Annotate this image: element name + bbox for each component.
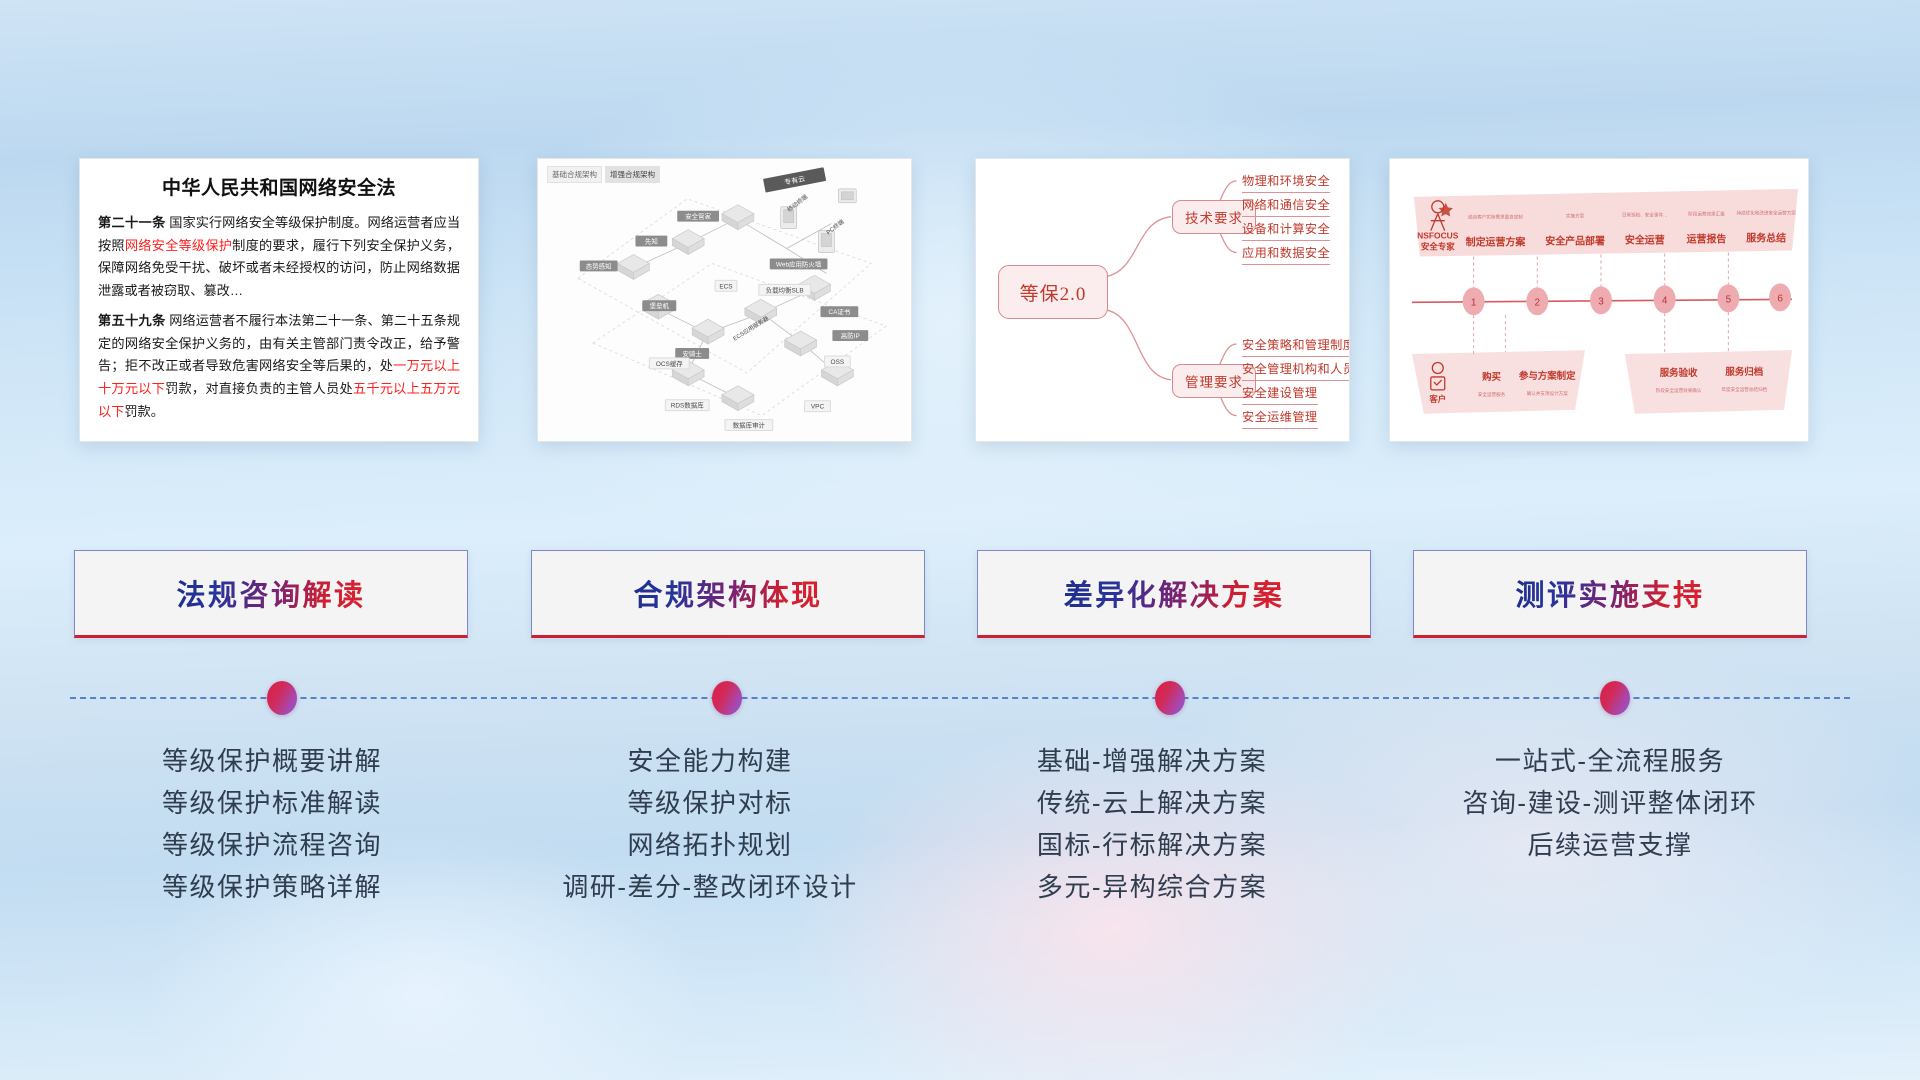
svg-text:OCS缓存: OCS缓存	[656, 359, 683, 368]
svg-text:负载均衡SLB: 负载均衡SLB	[766, 285, 804, 294]
list-item: 多元-异构综合方案	[940, 866, 1364, 908]
svg-text:数据库审计: 数据库审计	[733, 421, 766, 430]
list-item: 基础-增强解决方案	[940, 740, 1364, 782]
mindmap-leaf-mgmt-4: 安全运维管理	[1242, 407, 1318, 429]
list-item: 后续运营支撑	[1380, 824, 1840, 866]
svg-text:安骑士: 安骑士	[682, 349, 702, 358]
svg-text:安全管家: 安全管家	[685, 212, 711, 221]
list-item: 国标-行标解决方案	[940, 824, 1364, 866]
svg-text:安全运营服务: 安全运营服务	[1478, 391, 1506, 398]
svg-text:安全专家: 安全专家	[1421, 242, 1455, 252]
section-heading-1[interactable]: 法规咨询解读	[74, 550, 468, 638]
law-article-21: 第二十一条 国家实行网络安全等级保护制度。网络运营者应当按照网络安全等级保护制度…	[98, 212, 460, 303]
svg-text:OSS: OSS	[831, 359, 845, 366]
section-heading-2[interactable]: 合规架构体现	[531, 550, 925, 638]
architecture-diagram: 基础合规架构 增强合规架构	[538, 159, 911, 441]
mindmap-leaf-mgmt-1: 安全策略和管理制度	[1242, 335, 1350, 357]
list-item: 等级保护流程咨询	[60, 824, 484, 866]
timeline-rail-line	[70, 697, 1850, 699]
svg-text:阶段运营效果汇报: 阶段运营效果汇报	[1688, 211, 1725, 218]
mindmap-root-node[interactable]: 等保2.0	[998, 265, 1108, 319]
section-heading-4-label: 测评实施支持	[1515, 572, 1704, 614]
svg-text:6: 6	[1777, 293, 1783, 304]
svg-text:VPC: VPC	[811, 404, 825, 411]
svg-text:服务总结: 服务总结	[1746, 232, 1786, 245]
svg-text:年度安全运营总结归档: 年度安全运营总结归档	[1721, 386, 1767, 393]
timeline-dot-4[interactable]	[1600, 681, 1630, 715]
article-21-label: 第二十一条	[98, 215, 166, 230]
article-59-text-2: 罚款，对直接负责的主管人员处	[165, 381, 353, 396]
section-heading-1-label: 法规咨询解读	[176, 572, 365, 614]
svg-text:持续优化和改进安全运营方案: 持续优化和改进安全运营方案	[1737, 210, 1797, 217]
svg-text:安全产品部署: 安全产品部署	[1545, 235, 1605, 248]
svg-text:移动终端: 移动终端	[786, 193, 810, 214]
list-item: 一站式-全流程服务	[1380, 740, 1840, 782]
svg-text:态势感知: 态势感知	[586, 261, 612, 270]
mindmap-leaf-mgmt-2: 安全管理机构和人员	[1242, 359, 1350, 381]
list-item: 咨询-建设-测评整体闭环	[1380, 782, 1840, 824]
svg-text:安全运营: 安全运营	[1625, 234, 1665, 247]
svg-text:Web应用防火墙: Web应用防火墙	[776, 259, 822, 268]
screenshot-card-row: 中华人民共和国网络安全法 第二十一条 国家实行网络安全等级保护制度。网络运营者应…	[0, 152, 1920, 440]
list-item: 等级保护标准解读	[60, 782, 484, 824]
service-timeline: 12 34 56 NSFOCUS 安全专家	[1390, 159, 1808, 441]
list-item: 调研-差分-整改闭环设计	[498, 866, 922, 908]
article-59-label: 第五十九条	[98, 313, 166, 328]
section-heading-4[interactable]: 测评实施支持	[1413, 550, 1807, 638]
section-list-2: 安全能力构建 等级保护对标 网络拓扑规划 调研-差分-整改闭环设计	[498, 740, 922, 908]
article-21-highlight: 网络安全等级保护	[125, 238, 232, 253]
svg-text:运营报告: 运营报告	[1687, 233, 1727, 246]
svg-text:ECS: ECS	[719, 283, 733, 290]
section-heading-row: 法规咨询解读 合规架构体现 差异化解决方案 测评实施支持	[0, 550, 1920, 640]
svg-text:参与方案制定: 参与方案制定	[1519, 370, 1576, 382]
svg-text:5: 5	[1726, 294, 1732, 305]
timeline-rail	[70, 697, 1850, 699]
article-59-text-3: 罚款。	[124, 404, 164, 419]
card-compliance-architecture[interactable]: 基础合规架构 增强合规架构	[537, 158, 912, 442]
card-service-timeline[interactable]: 12 34 56 NSFOCUS 安全专家	[1389, 158, 1809, 442]
svg-text:4: 4	[1662, 295, 1668, 306]
section-list-4: 一站式-全流程服务 咨询-建设-测评整体闭环 后续运营支撑	[1380, 740, 1840, 866]
law-title: 中华人民共和国网络安全法	[98, 173, 460, 200]
list-item: 等级保护对标	[498, 782, 922, 824]
mindmap-leaf-tech-3: 设备和计算安全	[1242, 219, 1330, 241]
svg-text:客户: 客户	[1428, 394, 1446, 404]
svg-text:高防IP: 高防IP	[841, 331, 860, 340]
svg-text:阶段安全运营效果确认: 阶段安全运营效果确认	[1656, 387, 1702, 394]
mindmap-leaf-tech-1: 物理和环境安全	[1242, 171, 1330, 193]
list-item: 传统-云上解决方案	[940, 782, 1364, 824]
slide-canvas: 中华人民共和国网络安全法 第二十一条 国家实行网络安全等级保护制度。网络运营者应…	[0, 0, 1920, 1080]
svg-text:PC终端: PC终端	[825, 218, 846, 237]
svg-text:3: 3	[1598, 296, 1604, 307]
svg-text:日常巡检、安全事件…: 日常巡检、安全事件…	[1622, 212, 1668, 219]
timeline-dot-1[interactable]	[267, 681, 297, 715]
section-list-3: 基础-增强解决方案 传统-云上解决方案 国标-行标解决方案 多元-异构综合方案	[940, 740, 1364, 908]
card-cybersecurity-law[interactable]: 中华人民共和国网络安全法 第二十一条 国家实行网络安全等级保护制度。网络运营者应…	[79, 158, 479, 442]
svg-text:先知: 先知	[645, 237, 658, 246]
mindmap: 等保2.0 技术要求 管理要求 物理和环境安全 网络和通信安全 设备和计算安全 …	[976, 159, 1349, 441]
timeline-dot-3[interactable]	[1155, 681, 1185, 715]
svg-text:服务验收: 服务验收	[1660, 367, 1698, 379]
svg-text:购买: 购买	[1482, 371, 1501, 383]
svg-text:NSFOCUS: NSFOCUS	[1417, 231, 1459, 241]
list-item: 网络拓扑规划	[498, 824, 922, 866]
section-heading-2-label: 合规架构体现	[633, 572, 822, 614]
timeline-svg: 12 34 56 NSFOCUS 安全专家	[1390, 159, 1808, 442]
svg-text:结合客户实际需求量身定制: 结合客户实际需求量身定制	[1468, 214, 1523, 221]
law-article-59: 第五十九条 网络运营者不履行本法第二十一条、第二十五条规定的网络安全保护义务的，…	[98, 310, 460, 424]
svg-text:CA证书: CA证书	[828, 307, 850, 316]
svg-text:确认并支项设计方案: 确认并支项设计方案	[1527, 390, 1569, 397]
svg-text:制定运营方案: 制定运营方案	[1466, 236, 1527, 249]
list-item: 安全能力构建	[498, 740, 922, 782]
svg-text:1: 1	[1471, 297, 1477, 308]
card-dengbao-mindmap[interactable]: 等保2.0 技术要求 管理要求 物理和环境安全 网络和通信安全 设备和计算安全 …	[975, 158, 1350, 442]
mindmap-leaf-tech-2: 网络和通信安全	[1242, 195, 1330, 217]
mindmap-leaf-tech-4: 应用和数据安全	[1242, 243, 1330, 265]
mindmap-leaf-mgmt-3: 安全建设管理	[1242, 383, 1318, 405]
list-item: 等级保护概要讲解	[60, 740, 484, 782]
svg-text:RDS数据库: RDS数据库	[671, 401, 705, 410]
svg-text:服务归档: 服务归档	[1725, 366, 1763, 378]
svg-text:堡垒机: 堡垒机	[650, 301, 670, 310]
section-list-1: 等级保护概要讲解 等级保护标准解读 等级保护流程咨询 等级保护策略详解	[60, 740, 484, 908]
section-heading-3-label: 差异化解决方案	[1064, 572, 1285, 614]
section-heading-3[interactable]: 差异化解决方案	[977, 550, 1371, 638]
law-text-block: 中华人民共和国网络安全法 第二十一条 国家实行网络安全等级保护制度。网络运营者应…	[80, 159, 478, 433]
architecture-svg: 态势感知 先知 安全管家 堡垒机 安骑士 专有云 Web应用防火墙 CA证书 高…	[538, 159, 911, 441]
timeline-dot-2[interactable]	[712, 681, 742, 715]
list-item: 等级保护策略详解	[60, 866, 484, 908]
svg-text:2: 2	[1535, 297, 1541, 308]
svg-text:实施方案: 实施方案	[1566, 213, 1585, 220]
